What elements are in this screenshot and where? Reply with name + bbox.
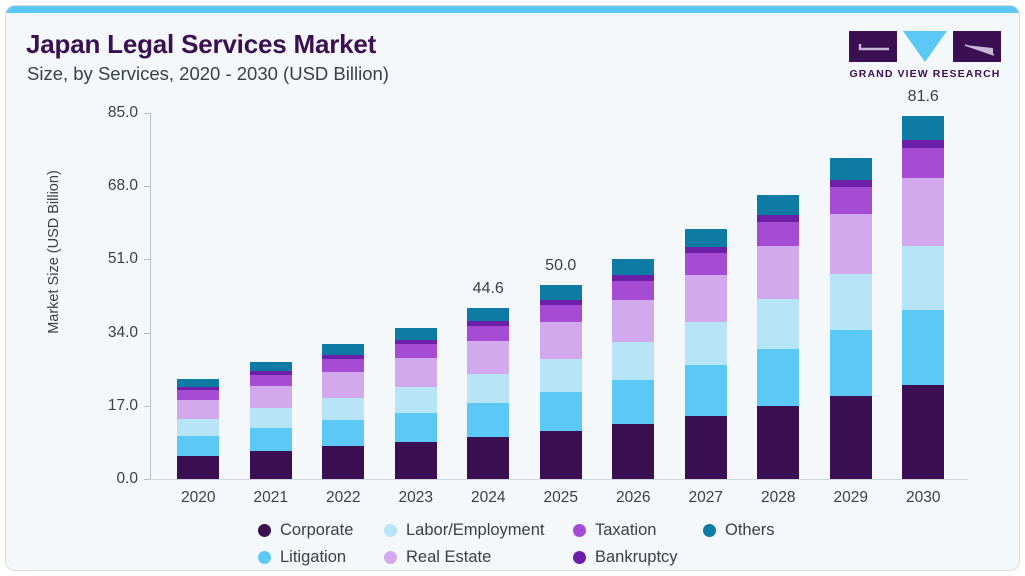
bar-stack	[685, 229, 727, 479]
bar-segment-corporate[interactable]	[540, 431, 582, 479]
legend-swatch-icon	[703, 524, 716, 537]
bar-segment-labor-employment[interactable]	[757, 299, 799, 348]
y-axis-label: Market Size (USD Billion)	[46, 152, 62, 352]
bar-segment-others[interactable]	[177, 379, 219, 388]
y-axis-tick-label: 0.0	[84, 470, 138, 488]
bar-stack	[467, 308, 509, 479]
bar-total-label-2030: 81.6	[873, 88, 973, 106]
bar-segment-taxation[interactable]	[467, 326, 509, 342]
bar-segment-litigation[interactable]	[395, 413, 437, 442]
bar-stack	[395, 328, 437, 479]
bar-group-2029[interactable]: 2029	[830, 6, 872, 480]
legend-item-real-estate[interactable]: Real Estate	[384, 548, 491, 567]
bar-group-2026[interactable]: 2026	[612, 6, 654, 480]
bar-segment-taxation[interactable]	[540, 305, 582, 322]
bar-segment-corporate[interactable]	[757, 406, 799, 479]
y-axis-tick-mark	[144, 113, 150, 114]
bar-segment-real-estate[interactable]	[322, 372, 364, 398]
bar-segment-litigation[interactable]	[685, 365, 727, 415]
bar-segment-litigation[interactable]	[757, 349, 799, 407]
bar-segment-others[interactable]	[322, 344, 364, 355]
bar-segment-bankruptcy[interactable]	[830, 180, 872, 187]
bar-segment-taxation[interactable]	[757, 222, 799, 246]
y-axis-tick-label: 34.0	[84, 324, 138, 342]
legend-swatch-icon	[573, 551, 586, 564]
legend-swatch-icon	[384, 524, 397, 537]
legend-label: Real Estate	[406, 548, 491, 567]
bar-segment-real-estate[interactable]	[757, 246, 799, 299]
legend-swatch-icon	[258, 551, 271, 564]
y-axis-tick-label: 68.0	[84, 177, 138, 195]
legend-swatch-icon	[384, 551, 397, 564]
bar-segment-labor-employment[interactable]	[902, 246, 944, 310]
bar-group-2027[interactable]: 2027	[685, 6, 727, 480]
bar-segment-others[interactable]	[540, 285, 582, 300]
y-axis-tick-mark	[144, 259, 150, 260]
legend-label: Corporate	[280, 521, 353, 540]
bar-segment-labor-employment[interactable]	[540, 359, 582, 392]
bar-group-2030[interactable]: 81.62030	[902, 6, 944, 480]
y-axis-tick-label: 85.0	[84, 104, 138, 122]
bar-segment-taxation[interactable]	[685, 253, 727, 275]
bar-total-label-2024: 44.6	[438, 280, 538, 298]
bar-stack	[540, 285, 582, 479]
bar-segment-corporate[interactable]	[322, 446, 364, 479]
bar-group-2024[interactable]: 44.62024	[467, 6, 509, 480]
bar-segment-taxation[interactable]	[395, 344, 437, 358]
bar-group-2025[interactable]: 50.02025	[540, 6, 582, 480]
y-axis-tick-mark	[144, 479, 150, 480]
legend-swatch-icon	[258, 524, 271, 537]
bar-segment-corporate[interactable]	[685, 416, 727, 479]
bar-segment-litigation[interactable]	[467, 403, 509, 437]
bar-stack	[250, 362, 292, 479]
bar-group-2022[interactable]: 2022	[322, 6, 364, 480]
bar-total-label-2025: 50.0	[511, 257, 611, 275]
bar-segment-bankruptcy[interactable]	[757, 215, 799, 222]
bar-stack	[612, 259, 654, 479]
legend-item-others[interactable]: Others	[703, 521, 775, 540]
bar-segment-real-estate[interactable]	[540, 322, 582, 359]
bar-group-2020[interactable]: 2020	[177, 6, 219, 480]
bar-segment-others[interactable]	[395, 328, 437, 340]
bar-segment-labor-employment[interactable]	[177, 419, 219, 436]
legend-item-bankruptcy[interactable]: Bankruptcy	[573, 548, 678, 567]
bar-segment-taxation[interactable]	[902, 148, 944, 178]
bar-segment-taxation[interactable]	[250, 375, 292, 386]
bar-group-2023[interactable]: 2023	[395, 6, 437, 480]
y-axis-tick-mark	[144, 406, 150, 407]
legend-item-labor-employment[interactable]: Labor/Employment	[384, 521, 545, 540]
bar-stack	[322, 344, 364, 479]
bar-segment-corporate[interactable]	[830, 396, 872, 479]
bar-segment-taxation[interactable]	[177, 390, 219, 399]
bar-segment-corporate[interactable]	[395, 442, 437, 479]
legend-label: Labor/Employment	[406, 521, 545, 540]
legend-swatch-icon	[573, 524, 586, 537]
y-axis-tick-mark	[144, 333, 150, 334]
legend-item-litigation[interactable]: Litigation	[258, 548, 346, 567]
bar-segment-litigation[interactable]	[902, 310, 944, 385]
bar-stack	[177, 379, 219, 479]
bar-segment-corporate[interactable]	[612, 424, 654, 479]
bar-segment-litigation[interactable]	[540, 392, 582, 430]
bar-segment-others[interactable]	[685, 229, 727, 247]
bar-segment-taxation[interactable]	[612, 281, 654, 300]
bar-segment-labor-employment[interactable]	[250, 408, 292, 428]
legend-label: Litigation	[280, 548, 346, 567]
legend-item-corporate[interactable]: Corporate	[258, 521, 353, 540]
legend-item-taxation[interactable]: Taxation	[573, 521, 656, 540]
bar-segment-litigation[interactable]	[177, 436, 219, 455]
bar-segment-others[interactable]	[757, 195, 799, 215]
bar-segment-others[interactable]	[467, 308, 509, 321]
y-axis-tick-label: 17.0	[84, 397, 138, 415]
bar-segment-real-estate[interactable]	[467, 341, 509, 374]
legend-label: Others	[725, 521, 775, 540]
bar-segment-labor-employment[interactable]	[612, 342, 654, 380]
bar-segment-litigation[interactable]	[322, 420, 364, 446]
bar-segment-labor-employment[interactable]	[322, 398, 364, 421]
bar-segment-bankruptcy[interactable]	[902, 140, 944, 148]
bar-group-2028[interactable]: 2028	[757, 6, 799, 480]
bar-segment-corporate[interactable]	[467, 437, 509, 479]
bar-segment-labor-employment[interactable]	[467, 374, 509, 403]
bar-stack	[902, 116, 944, 479]
bar-segment-real-estate[interactable]	[612, 300, 654, 342]
bar-group-2021[interactable]: 2021	[250, 6, 292, 480]
legend-label: Bankruptcy	[595, 548, 678, 567]
bar-segment-real-estate[interactable]	[685, 275, 727, 322]
bar-segment-others[interactable]	[902, 116, 944, 140]
legend-label: Taxation	[595, 521, 656, 540]
bar-segment-litigation[interactable]	[250, 428, 292, 451]
bar-segment-corporate[interactable]	[250, 451, 292, 479]
bar-segment-labor-employment[interactable]	[830, 274, 872, 330]
bar-segment-labor-employment[interactable]	[395, 387, 437, 413]
x-axis-tick-label-2030: 2030	[873, 489, 973, 507]
bar-segment-real-estate[interactable]	[830, 214, 872, 274]
bar-segment-real-estate[interactable]	[902, 178, 944, 246]
bar-segment-litigation[interactable]	[830, 330, 872, 396]
bar-segment-real-estate[interactable]	[395, 358, 437, 387]
y-axis-tick-label: 51.0	[84, 250, 138, 268]
bar-segment-others[interactable]	[830, 158, 872, 180]
chart-card: Japan Legal Services Market Size, by Ser…	[5, 5, 1020, 571]
bar-stack	[830, 158, 872, 479]
bar-segment-real-estate[interactable]	[177, 400, 219, 419]
bar-segment-litigation[interactable]	[612, 380, 654, 424]
bar-segment-labor-employment[interactable]	[685, 322, 727, 365]
bar-segment-corporate[interactable]	[902, 385, 944, 479]
plot-area: Market Size (USD Billion) 0.017.034.051.…	[6, 6, 1019, 570]
bar-stack	[757, 195, 799, 479]
bar-segment-taxation[interactable]	[322, 359, 364, 371]
bar-segment-corporate[interactable]	[177, 456, 219, 479]
chart-legend: CorporateLitigationLabor/EmploymentReal …	[6, 516, 1019, 568]
bar-segment-others[interactable]	[250, 362, 292, 372]
bar-segment-real-estate[interactable]	[250, 386, 292, 408]
y-axis-line	[150, 113, 151, 480]
bar-segment-others[interactable]	[612, 259, 654, 275]
y-axis-tick-mark	[144, 186, 150, 187]
bar-segment-taxation[interactable]	[830, 187, 872, 214]
